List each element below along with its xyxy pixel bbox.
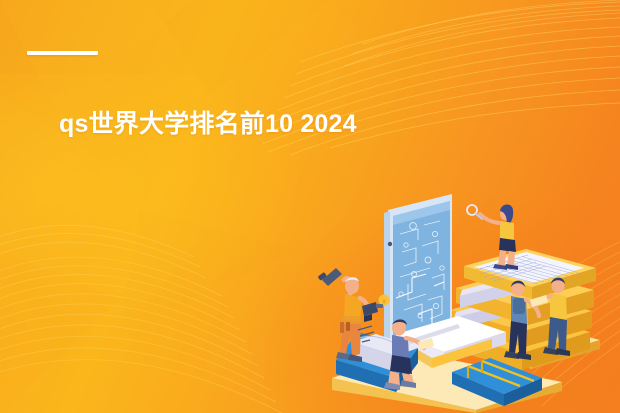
magnifier-icon (467, 205, 482, 219)
illustration-isometric-books-and-tablet: ¥ (300, 182, 620, 413)
tablet-camera-dot (388, 242, 392, 246)
woman-leg (507, 251, 515, 266)
reader-shorts (390, 355, 412, 374)
woman-top (500, 221, 514, 240)
text-block (27, 40, 457, 55)
ribbon-top-right-secondary (344, 0, 620, 66)
page-title: qs世界大学排名前10 2024 (59, 106, 357, 142)
worker-tool-belt (341, 316, 361, 324)
accent-rule (27, 51, 98, 55)
illustration-svg: ¥ (300, 182, 620, 413)
ribbon-bottom-left-secondary (0, 225, 206, 278)
banner-image: qs世界大学排名前10 2024 (0, 0, 620, 413)
woman-skirt (499, 238, 516, 252)
worker-belt-tool (346, 322, 350, 331)
worker-belt-tool (340, 322, 344, 333)
ribbon-bottom-left (0, 257, 282, 413)
woman-leg (498, 250, 506, 266)
person-backpack (513, 298, 525, 314)
